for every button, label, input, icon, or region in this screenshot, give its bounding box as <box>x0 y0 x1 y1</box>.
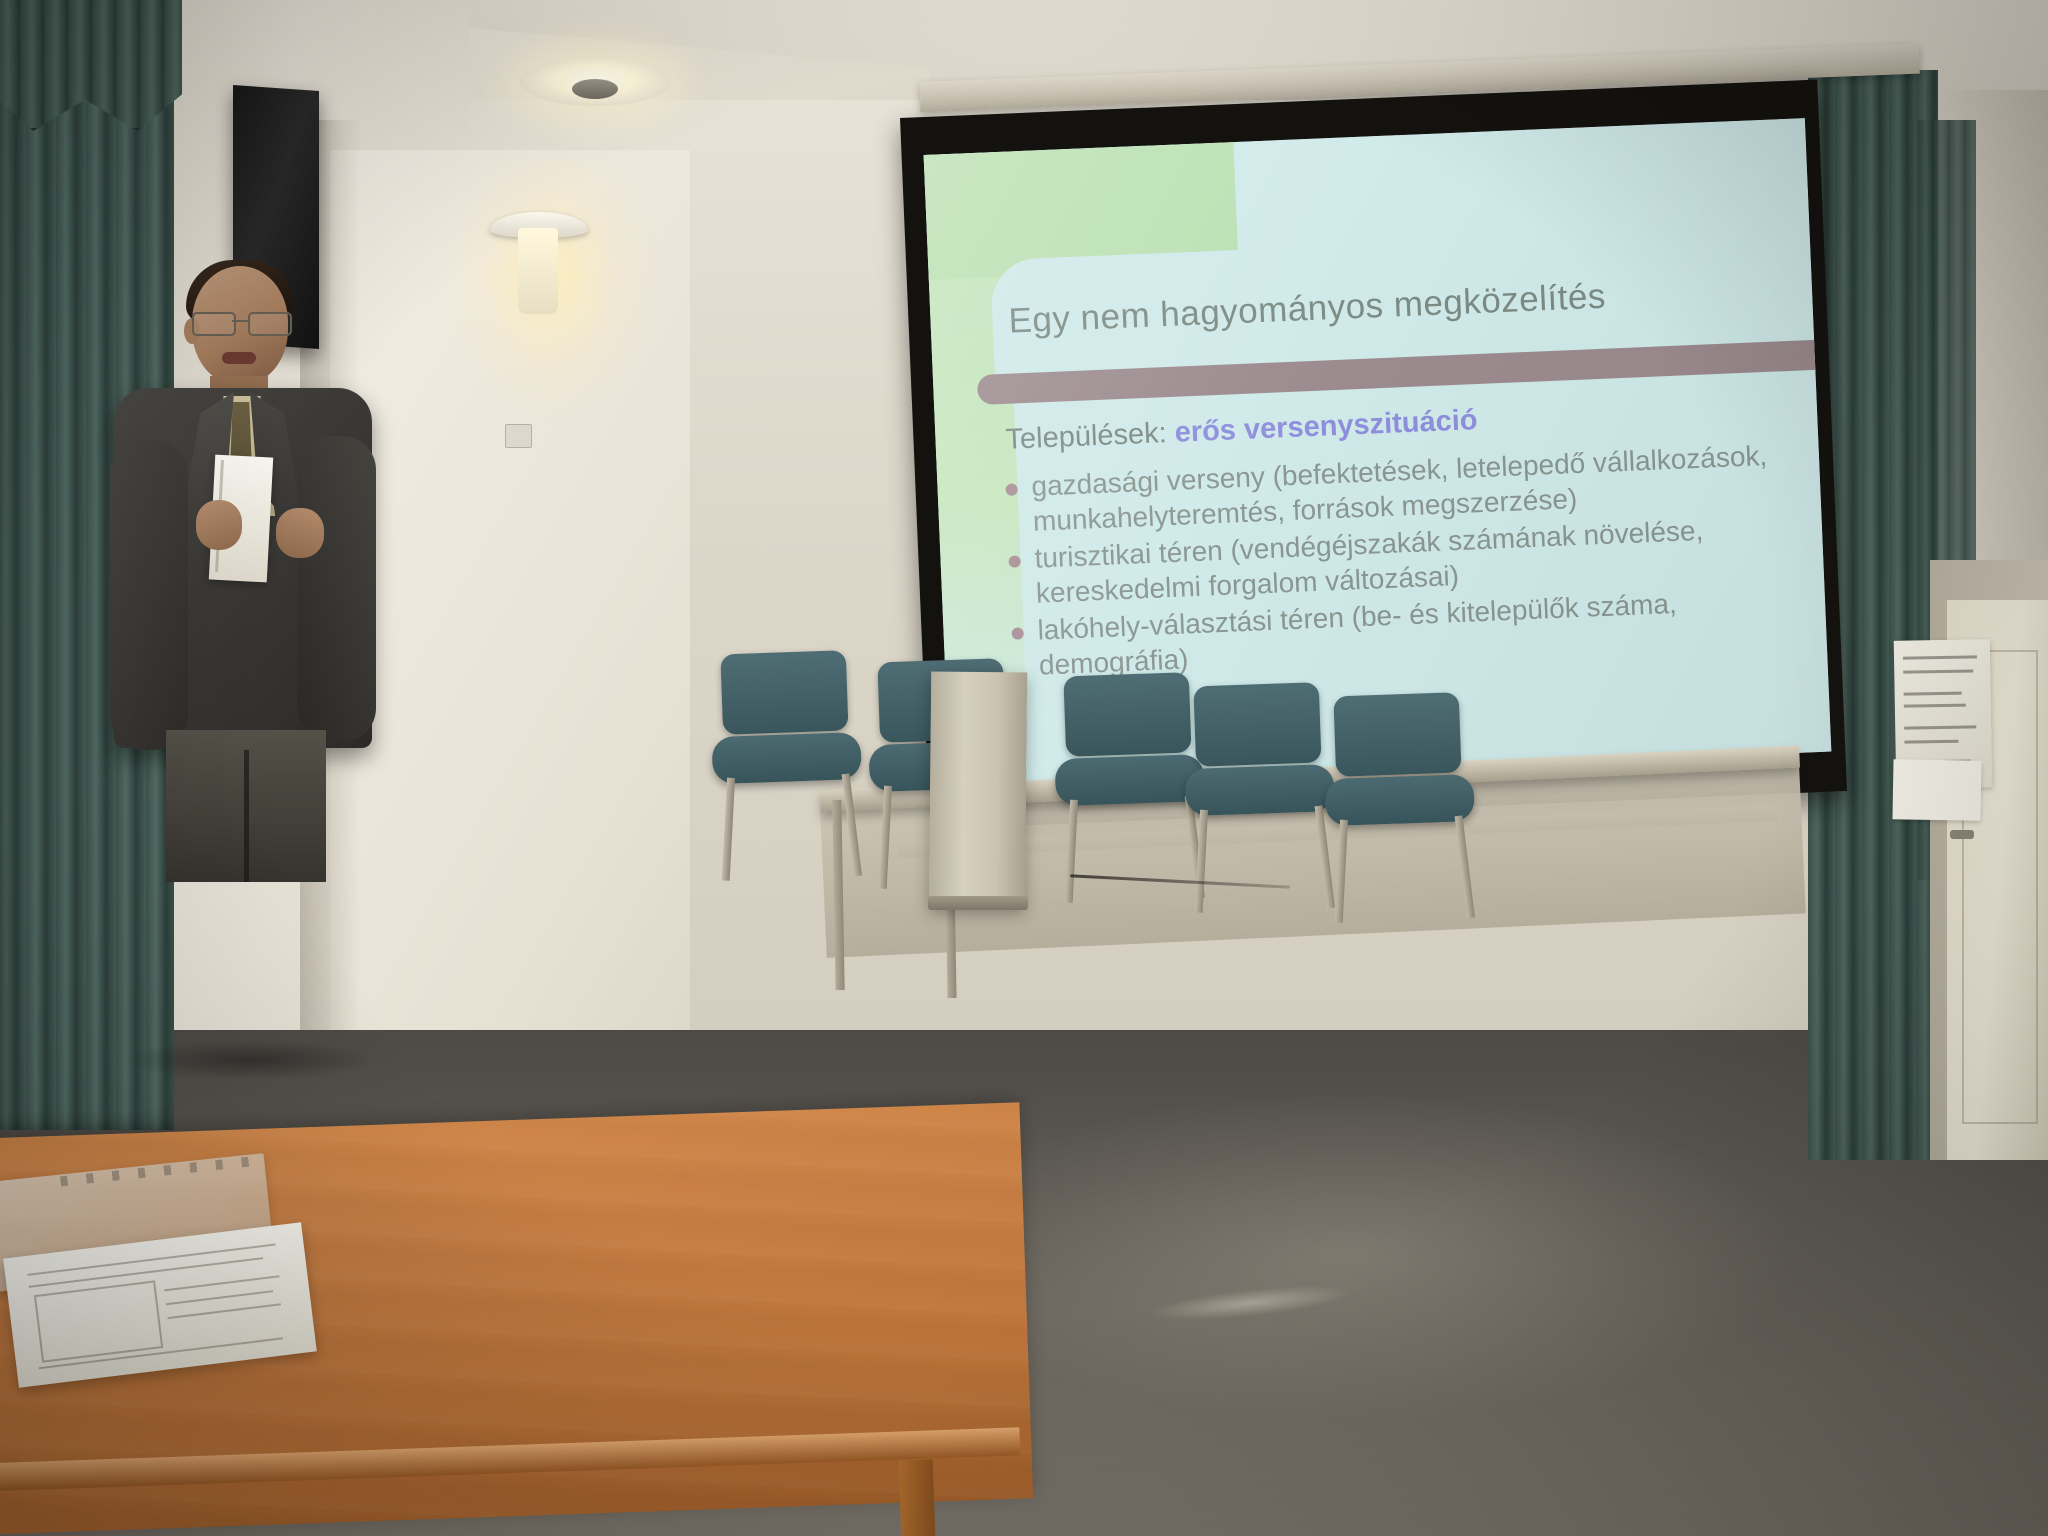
presenter-hand-left <box>196 500 242 550</box>
chair <box>703 650 868 881</box>
chair-back <box>1063 672 1191 757</box>
slide-lead-highlight: erős versenyszituáció <box>1174 404 1478 449</box>
presenter-mouth <box>222 352 256 364</box>
chair-leg <box>722 778 735 881</box>
wall-outlet <box>505 424 532 448</box>
door-handle[interactable] <box>1950 830 1974 839</box>
chair-seat <box>1184 764 1335 816</box>
presenter-shadow <box>120 1040 380 1080</box>
chair-leg <box>842 773 862 876</box>
chair-leg <box>1065 800 1078 903</box>
presenter-arm-left <box>110 440 188 750</box>
support-column-base <box>928 896 1028 910</box>
glasses-icon <box>192 312 290 332</box>
chair-leg <box>879 786 892 889</box>
slide-bullet-list: gazdasági verseny (befektetések, letelep… <box>993 436 1817 686</box>
wall-notice-lower <box>1892 759 1981 821</box>
chair <box>1316 692 1481 923</box>
chair-back <box>720 650 848 735</box>
document-table-box <box>34 1280 163 1362</box>
recessed-downlight-left <box>520 58 670 106</box>
presenter-arm-right <box>298 436 376 742</box>
floor-light-reflection <box>900 1090 1800 1420</box>
conference-room-scene: Egy nem hagyományos megközelítés Települ… <box>0 0 2048 1536</box>
chair-seat <box>1324 774 1475 826</box>
trouser-seam <box>244 750 249 882</box>
chair-back <box>1333 692 1461 777</box>
slide-lead-prefix: Települések: <box>1005 417 1175 456</box>
presenter <box>100 260 400 880</box>
downlight-can <box>572 79 618 99</box>
support-column <box>929 672 1027 909</box>
presenter-hand-right <box>276 508 324 558</box>
chair-leg <box>1455 815 1475 918</box>
chair-back <box>1193 682 1321 767</box>
chair-leg <box>1195 810 1208 913</box>
foreground-table-leg <box>899 1459 936 1536</box>
wall-sconce-body <box>518 228 558 314</box>
chair-seat <box>711 732 862 784</box>
chair-leg <box>1335 820 1348 923</box>
